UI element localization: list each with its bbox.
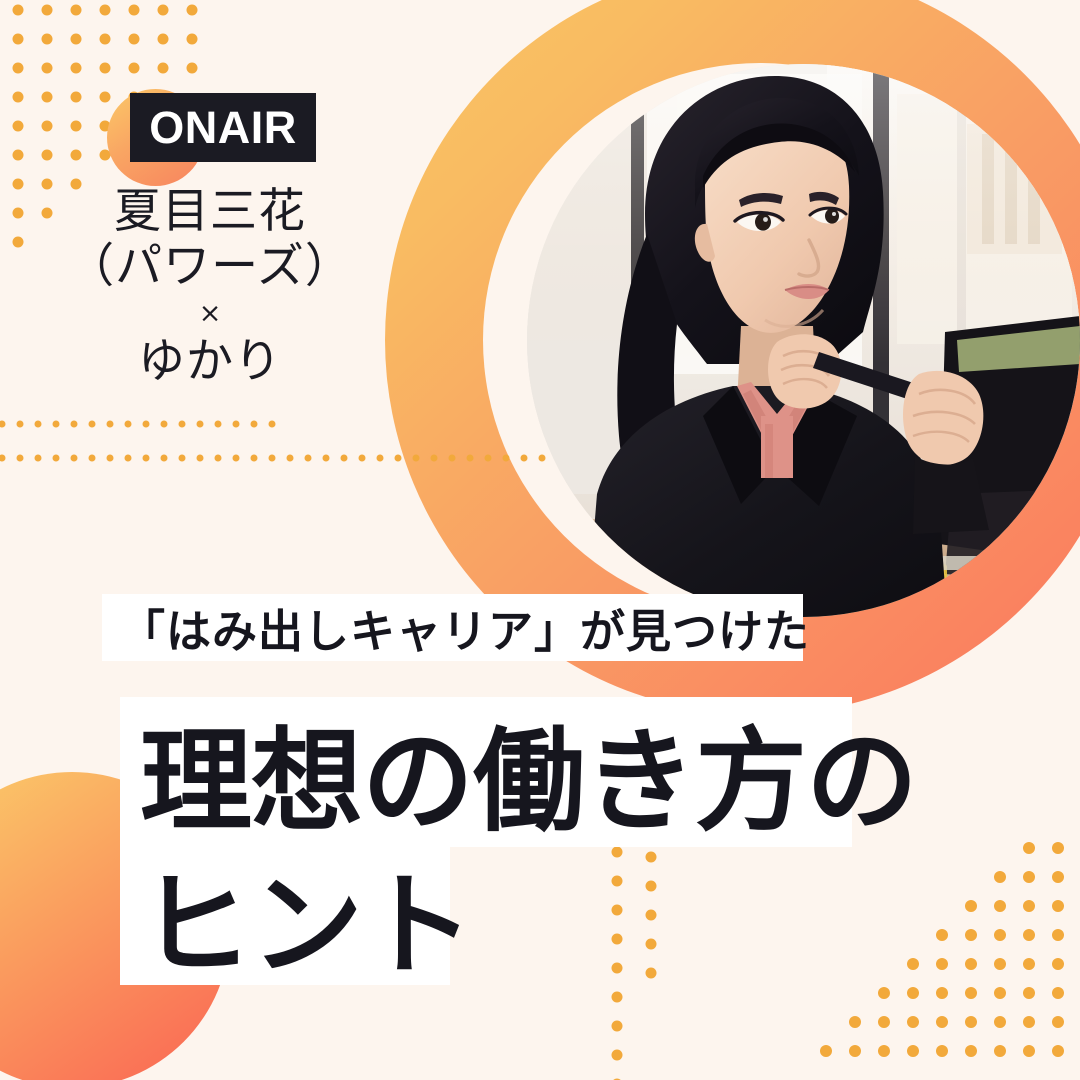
- mid-left-dot-row-lower-dot: [161, 455, 168, 462]
- mid-left-dot-row-lower-dot: [53, 455, 60, 462]
- bottom-right-dot-wedge-dot: [994, 1045, 1006, 1057]
- top-left-dot-grid-dot: [71, 121, 82, 132]
- bottom-right-dot-wedge-dot: [965, 987, 977, 999]
- top-left-dot-grid-dot: [42, 63, 53, 74]
- bottom-center-dot-column-long-dot: [612, 963, 623, 974]
- guest-separator: ×: [0, 294, 420, 335]
- top-left-dot-grid-dot: [100, 34, 111, 45]
- mid-left-dot-row-upper-dot: [179, 421, 186, 428]
- mid-left-dot-row-lower-dot: [107, 455, 114, 462]
- bottom-right-dot-wedge-dot: [878, 1016, 890, 1028]
- mid-left-dot-row-upper-dot: [197, 421, 204, 428]
- top-left-dot-grid-dot: [129, 5, 140, 16]
- bottom-right-dot-wedge-dot: [849, 1045, 861, 1057]
- top-left-dot-grid-dot: [42, 150, 53, 161]
- top-left-dot-grid-dot: [71, 150, 82, 161]
- top-left-dot-grid-dot: [42, 92, 53, 103]
- top-left-dot-grid-dot: [13, 34, 24, 45]
- top-left-dot-grid-dot: [158, 34, 169, 45]
- bottom-right-dot-wedge-dot: [907, 1045, 919, 1057]
- top-left-dot-grid-dot: [100, 5, 111, 16]
- onair-label: ONAIR: [149, 105, 297, 150]
- bottom-right-dot-wedge-dot: [994, 929, 1006, 941]
- mid-left-dot-row-lower-dot: [341, 455, 348, 462]
- bottom-right-dot-wedge-dot: [907, 958, 919, 970]
- mid-left-dot-row-lower-dot: [521, 455, 528, 462]
- mid-left-dot-row-lower-dot: [233, 455, 240, 462]
- top-left-dot-grid-dot: [158, 63, 169, 74]
- mid-left-dot-row-upper-dot: [0, 421, 6, 428]
- bottom-center-dot-column-short-dot: [646, 968, 657, 979]
- bottom-right-dot-wedge-dot: [1023, 958, 1035, 970]
- bottom-center-dot-column-short-dot: [646, 852, 657, 863]
- bottom-center-dot-column-long-dot: [612, 876, 623, 887]
- bottom-right-dot-wedge-dot: [994, 900, 1006, 912]
- headline-title-line2: ヒント: [120, 847, 450, 985]
- mid-left-dot-row-lower-dot: [251, 455, 258, 462]
- top-left-dot-grid-dot: [13, 5, 24, 16]
- mid-left-dot-row-lower-dot: [89, 455, 96, 462]
- mid-left-dot-row-upper-dot: [125, 421, 132, 428]
- top-left-dot-grid-dot: [100, 92, 111, 103]
- mid-left-dot-row-upper-dot: [269, 421, 276, 428]
- top-left-dot-grid-dot: [13, 150, 24, 161]
- bottom-right-dot-wedge-dot: [907, 1016, 919, 1028]
- hand-holding-pen: [903, 371, 983, 465]
- top-left-dot-grid-dot: [158, 5, 169, 16]
- mid-left-dot-row-lower-dot: [35, 455, 42, 462]
- mid-left-dot-row-upper-dot: [71, 421, 78, 428]
- bottom-right-dot-wedge-dot: [1023, 1045, 1035, 1057]
- top-left-dot-grid-dot: [71, 34, 82, 45]
- top-left-dot-grid-dot: [187, 34, 198, 45]
- mid-left-dot-row-lower-dot: [305, 455, 312, 462]
- headline-subtitle: 「はみ出しキャリア」が見つけた: [102, 594, 803, 661]
- guest-affiliation: （パワーズ）: [0, 240, 420, 295]
- top-left-dot-grid-dot: [71, 92, 82, 103]
- bottom-right-dot-wedge-dot: [965, 900, 977, 912]
- bottom-right-dot-wedge-dot: [1052, 871, 1064, 883]
- bottom-right-dot-wedge-dot: [994, 871, 1006, 883]
- bottom-right-dot-wedge-dot: [994, 987, 1006, 999]
- bottom-right-dot-wedge-dot: [1023, 900, 1035, 912]
- bottom-right-dot-wedge-dot: [965, 1016, 977, 1028]
- guest-partner: ゆかり: [0, 335, 420, 390]
- mid-left-dot-row-lower-dot: [269, 455, 276, 462]
- mid-left-dot-row-upper-dot: [161, 421, 168, 428]
- mid-left-dot-row-lower-dot: [395, 455, 402, 462]
- bottom-center-dot-column-short-dot: [646, 910, 657, 921]
- bottom-right-dot-wedge-dot: [965, 958, 977, 970]
- mid-left-dot-row-upper-dot: [89, 421, 96, 428]
- guest-name: 夏目三花: [0, 185, 420, 240]
- mid-left-dot-row-lower-dot: [125, 455, 132, 462]
- mid-left-dot-row-upper-dot: [107, 421, 114, 428]
- bottom-right-dot-wedge-dot: [1052, 1045, 1064, 1057]
- bottom-center-dot-column-long-dot: [612, 1050, 623, 1061]
- mid-left-dot-row-upper-dot: [53, 421, 60, 428]
- bottom-right-dot-wedge-dot: [878, 1045, 890, 1057]
- bottom-right-dot-wedge-dot: [907, 987, 919, 999]
- poster-canvas: ONAIR 夏目三花 （パワーズ） × ゆかり 「はみ出しキャリア」が見つけた …: [0, 0, 1080, 1080]
- bottom-right-dot-wedge-dot: [1052, 842, 1064, 854]
- mid-left-dot-row-lower-dot: [71, 455, 78, 462]
- bottom-right-dot-wedge-dot: [1023, 871, 1035, 883]
- bottom-right-dot-wedge-dot: [1052, 929, 1064, 941]
- top-left-dot-grid-dot: [71, 5, 82, 16]
- mid-left-dot-row-lower-dot: [431, 455, 438, 462]
- top-left-dot-grid-dot: [42, 121, 53, 132]
- bottom-right-dot-wedge-dot: [965, 1045, 977, 1057]
- bottom-center-dot-column-long-dot: [612, 905, 623, 916]
- bottom-right-dot-wedge-dot: [820, 1045, 832, 1057]
- mid-left-dot-row-lower-dot: [539, 455, 546, 462]
- bottom-right-dot-wedge-dot: [878, 987, 890, 999]
- bottom-right-dot-wedge-dot: [1023, 842, 1035, 854]
- top-left-dot-grid-dot: [71, 63, 82, 74]
- top-left-dot-grid-dot: [187, 63, 198, 74]
- mid-left-dot-row-lower-dot: [215, 455, 222, 462]
- onair-badge: ONAIR: [130, 93, 316, 162]
- mid-left-dot-row-upper-dot: [143, 421, 150, 428]
- mid-left-dot-row-lower-dot: [503, 455, 510, 462]
- bottom-right-dot-wedge-dot: [1023, 929, 1035, 941]
- mid-left-dot-row-upper-dot: [215, 421, 222, 428]
- top-left-dot-grid-dot: [13, 92, 24, 103]
- bottom-right-dot-wedge-dot: [994, 1016, 1006, 1028]
- guest-photo: [527, 64, 1080, 617]
- top-left-dot-grid-dot: [42, 5, 53, 16]
- bottom-center-dot-column-short-dot: [646, 881, 657, 892]
- top-left-dot-grid-dot: [187, 5, 198, 16]
- bottom-center-dot-column-long-dot: [612, 992, 623, 1003]
- mid-left-dot-row-lower-dot: [467, 455, 474, 462]
- bottom-right-dot-wedge-dot: [1052, 1016, 1064, 1028]
- mid-left-dot-row-lower-dot: [485, 455, 492, 462]
- top-left-dot-grid-dot: [13, 121, 24, 132]
- bottom-right-dot-wedge-dot: [1023, 987, 1035, 999]
- mid-left-dot-row-lower-dot: [449, 455, 456, 462]
- bottom-right-dot-wedge-dot: [1052, 900, 1064, 912]
- bottom-center-dot-column-long-dot: [612, 934, 623, 945]
- mid-left-dot-row-upper-dot: [251, 421, 258, 428]
- mid-left-dot-row-lower-dot: [17, 455, 24, 462]
- bottom-center-dot-column-long-dot: [612, 1021, 623, 1032]
- bottom-right-dot-wedge-dot: [936, 1016, 948, 1028]
- mid-left-dot-row-lower-dot: [0, 455, 6, 462]
- mid-left-dot-row-upper-dot: [233, 421, 240, 428]
- top-left-dot-grid-dot: [129, 63, 140, 74]
- mid-left-dot-row-lower-dot: [287, 455, 294, 462]
- mid-left-dot-row-lower-dot: [377, 455, 384, 462]
- mid-left-dot-row-upper-dot: [17, 421, 24, 428]
- bottom-center-dot-column-short-dot: [646, 939, 657, 950]
- bottom-right-dot-wedge-dot: [849, 1016, 861, 1028]
- mid-left-dot-row-lower-dot: [413, 455, 420, 462]
- bottom-right-dot-wedge-dot: [936, 987, 948, 999]
- top-left-dot-grid-dot: [100, 63, 111, 74]
- headline-title-line1: 理想の働き方の: [120, 697, 852, 847]
- top-left-dot-grid-dot: [42, 34, 53, 45]
- mid-left-dot-row-lower-dot: [179, 455, 186, 462]
- mid-left-dot-row-lower-dot: [143, 455, 150, 462]
- bottom-right-dot-wedge-dot: [1023, 1016, 1035, 1028]
- mid-left-dot-row-lower-dot: [323, 455, 330, 462]
- bottom-right-dot-wedge-dot: [1052, 987, 1064, 999]
- mid-left-dot-row-lower-dot: [197, 455, 204, 462]
- bottom-right-dot-wedge-dot: [936, 929, 948, 941]
- bottom-right-dot-wedge-dot: [1052, 958, 1064, 970]
- top-left-dot-grid-dot: [129, 34, 140, 45]
- mid-left-dot-row-upper-dot: [35, 421, 42, 428]
- mid-left-dot-row-lower-dot: [359, 455, 366, 462]
- bottom-right-dot-wedge-dot: [936, 1045, 948, 1057]
- bottom-right-dot-wedge-dot: [936, 958, 948, 970]
- top-left-dot-grid-dot: [13, 63, 24, 74]
- bottom-right-dot-wedge-dot: [965, 929, 977, 941]
- bottom-right-dot-wedge-dot: [994, 958, 1006, 970]
- guest-names: 夏目三花 （パワーズ） × ゆかり: [0, 185, 420, 389]
